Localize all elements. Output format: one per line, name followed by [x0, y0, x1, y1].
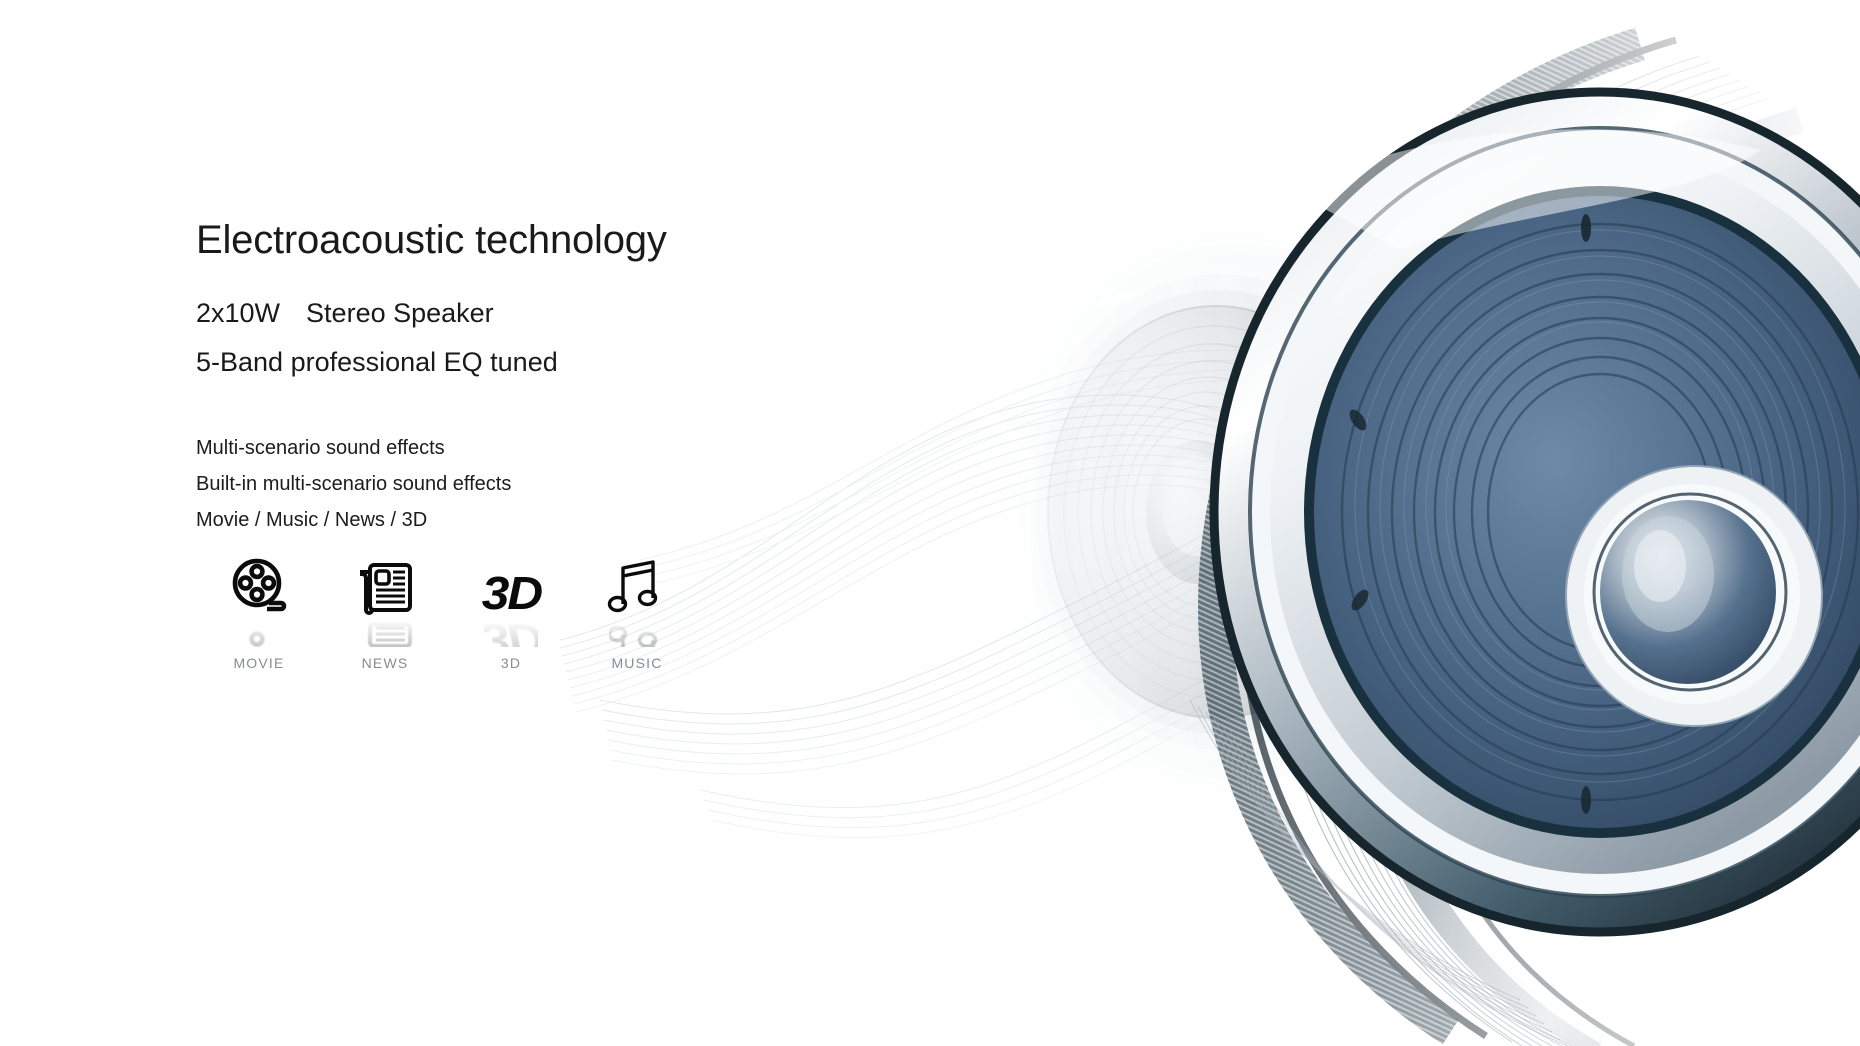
newspaper-icon: [348, 552, 422, 616]
mode-label-movie: MOVIE: [233, 655, 284, 671]
page-title: Electroacoustic technology: [196, 218, 956, 262]
spec-eq-line: 5-Band professional EQ tuned: [196, 349, 956, 376]
three-d-reflection: 3D: [474, 617, 548, 647]
three-d-glyph-text: 3D: [481, 570, 540, 616]
feature-line-2: Built-in multi-scenario sound effects: [196, 474, 956, 494]
feature-line-3: Movie / Music / News / 3D: [196, 510, 956, 530]
mode-icon-row: MOVIE: [196, 552, 700, 671]
spec-power-value: 2x10W: [196, 298, 280, 328]
copy-block: Electroacoustic technology 2x10WStereo S…: [196, 218, 956, 546]
mode-label-3d: 3D: [501, 655, 521, 671]
film-reel-reflection: [222, 617, 296, 647]
main-speaker: [1214, 92, 1860, 932]
spec-speaker-value: Stereo Speaker: [306, 298, 494, 328]
promo-banner: Electroacoustic technology 2x10WStereo S…: [0, 0, 1860, 1046]
newspaper-reflection: [348, 617, 422, 647]
mode-item-3d[interactable]: 3D 3D 3D: [448, 552, 574, 671]
mode-label-music: MUSIC: [611, 655, 662, 671]
swept-arcs: [1189, 0, 1860, 1046]
copy-spacer: [196, 398, 956, 438]
ghost-speaker: [975, 222, 1475, 802]
film-reel-icon: [222, 552, 296, 616]
feature-line-1: Multi-scenario sound effects: [196, 438, 956, 458]
mode-item-news[interactable]: NEWS: [322, 552, 448, 671]
three-d-icon: 3D: [474, 552, 548, 616]
lower-striped-fan: [1190, 700, 1568, 1046]
music-note-icon: [600, 552, 674, 616]
mode-item-movie[interactable]: MOVIE: [196, 552, 322, 671]
music-note-reflection: [600, 617, 674, 647]
mode-label-news: NEWS: [362, 655, 409, 671]
mode-item-music[interactable]: MUSIC: [574, 552, 700, 671]
spec-power-line: 2x10WStereo Speaker: [196, 300, 956, 327]
